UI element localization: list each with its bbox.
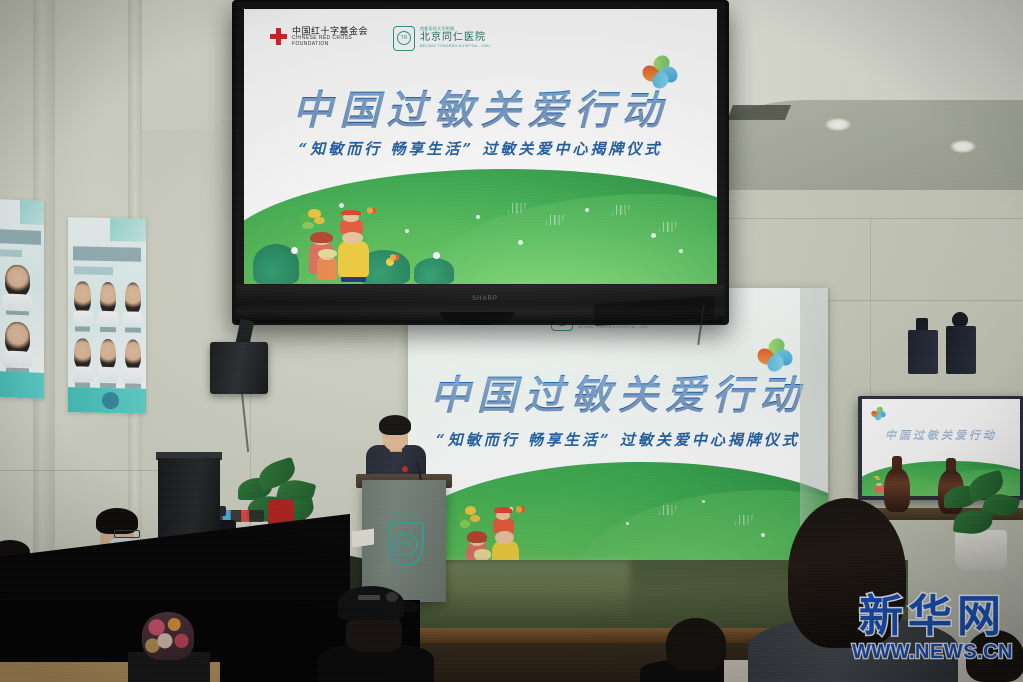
hospital-logo: TR 首都医科大学附属 北京同仁医院 BEIJING TONGREN HOSPI… — [393, 26, 490, 51]
four-leaf-clover-icon — [641, 56, 677, 90]
wall-seam — [690, 218, 1023, 219]
cap-side-logo — [386, 592, 398, 602]
poster-portrait — [122, 339, 144, 390]
meadow-illustration — [244, 169, 717, 285]
ceiling-vent — [727, 105, 791, 120]
butterfly-icon — [390, 254, 399, 261]
poster-subtitle-bar — [74, 266, 113, 275]
ceramic-vase-left — [884, 468, 910, 512]
attendee-center-right-head — [666, 618, 726, 670]
poster-portrait — [72, 282, 94, 333]
poster-accent-band — [110, 218, 146, 242]
presenter-lapel-pin — [402, 466, 408, 472]
ceiling-downlight-icon — [950, 140, 976, 153]
av-box — [946, 326, 976, 374]
hospital-en-name: BEIJING TONGREN HOSPITAL, CMU — [420, 44, 490, 48]
lectern-logo: TONGREN TR — [380, 512, 428, 568]
poster-portrait — [97, 282, 119, 333]
display-brand-logo: SHARP — [455, 296, 515, 304]
four-leaf-clover-icon — [871, 407, 885, 420]
poster-portrait — [1, 265, 33, 318]
slide-subtitle: “知敏而行 畅享生活” 过敏关爱中心揭牌仪式 — [244, 138, 717, 159]
balloons-icon — [457, 504, 488, 534]
staff-portrait-poster-left — [0, 199, 44, 399]
four-leaf-clover-icon — [756, 339, 792, 373]
tongren-mark: TR — [397, 31, 411, 45]
tongren-shield-icon: TR — [393, 26, 415, 51]
balloons-icon — [299, 207, 334, 234]
poster-subtitle-bar — [0, 249, 22, 258]
tongren-shield-icon: TR — [388, 522, 424, 566]
butterfly-icon — [367, 207, 376, 214]
poster-title-bar — [0, 229, 41, 245]
staff-portrait-poster-right — [68, 217, 146, 414]
hospital-en-name: BEIJING TONGREN HOSPITAL, CMU — [578, 325, 648, 329]
stage-backdrop-banner: 中国红十字基金会 CHINESE RED CROSS FOUNDATION TR… — [408, 288, 828, 588]
hospital-cn-name: 北京同仁医院 — [420, 32, 490, 44]
lectern-papers — [352, 528, 374, 547]
watermark-url-text: WWW.NEWS.CN — [852, 641, 1013, 664]
stage-reflection — [430, 560, 630, 620]
side-monitor-title: 中国过敏关爱行动 — [862, 426, 1020, 444]
poster-portrait-grid — [72, 282, 144, 391]
slide-logos: 中国红十字基金会 CHINESE RED CROSS FOUNDATION TR… — [270, 26, 582, 51]
poster-portrait — [122, 283, 144, 334]
baseball-cap-icon — [338, 586, 404, 620]
presentation-slide: 中国红十字基金会 CHINESE RED CROSS FOUNDATION TR… — [244, 9, 717, 284]
poster-title-bar — [73, 247, 142, 262]
eyeglasses-icon — [114, 530, 140, 538]
cap-logo — [358, 595, 380, 600]
poster-portrait — [72, 338, 94, 389]
red-cross-logo: 中国红十字基金会 CHINESE RED CROSS FOUNDATION — [270, 26, 368, 48]
lectern-logo-word: TONGREN — [380, 512, 428, 517]
poster-portrait-grid — [1, 265, 33, 375]
backdrop-subtitle: “知敏而行 畅享生活” 过敏关爱中心揭牌仪式 — [408, 429, 828, 450]
xinhua-watermark: 新华网 WWW.NEWS.CN — [852, 595, 1013, 664]
slide-title-text: 中国过敏关爱行动 — [293, 78, 669, 136]
floral-headscarf-icon — [142, 612, 194, 660]
family-illustration — [301, 201, 405, 282]
butterfly-icon — [516, 506, 525, 513]
poster-portrait — [97, 338, 119, 389]
ceiling-downlight-icon — [825, 118, 851, 131]
poster-portrait — [1, 322, 33, 375]
wall-speaker — [210, 342, 268, 394]
photo-scene: 中国红十字基金会 CHINESE RED CROSS FOUNDATION TR… — [0, 0, 1023, 682]
display-screen: 中国红十字基金会 CHINESE RED CROSS FOUNDATION TR… — [244, 9, 717, 284]
red-cross-icon — [270, 28, 287, 45]
tongren-mark: TR — [394, 532, 418, 556]
presenter-hair — [379, 415, 411, 435]
poster-footer-band — [0, 371, 44, 399]
av-box — [908, 330, 938, 374]
poster-accent-band — [20, 200, 44, 225]
potted-plant-right — [940, 470, 1023, 552]
watermark-cn-text: 新华网 — [852, 595, 1013, 639]
red-cross-en-line2: FOUNDATION — [292, 42, 368, 48]
